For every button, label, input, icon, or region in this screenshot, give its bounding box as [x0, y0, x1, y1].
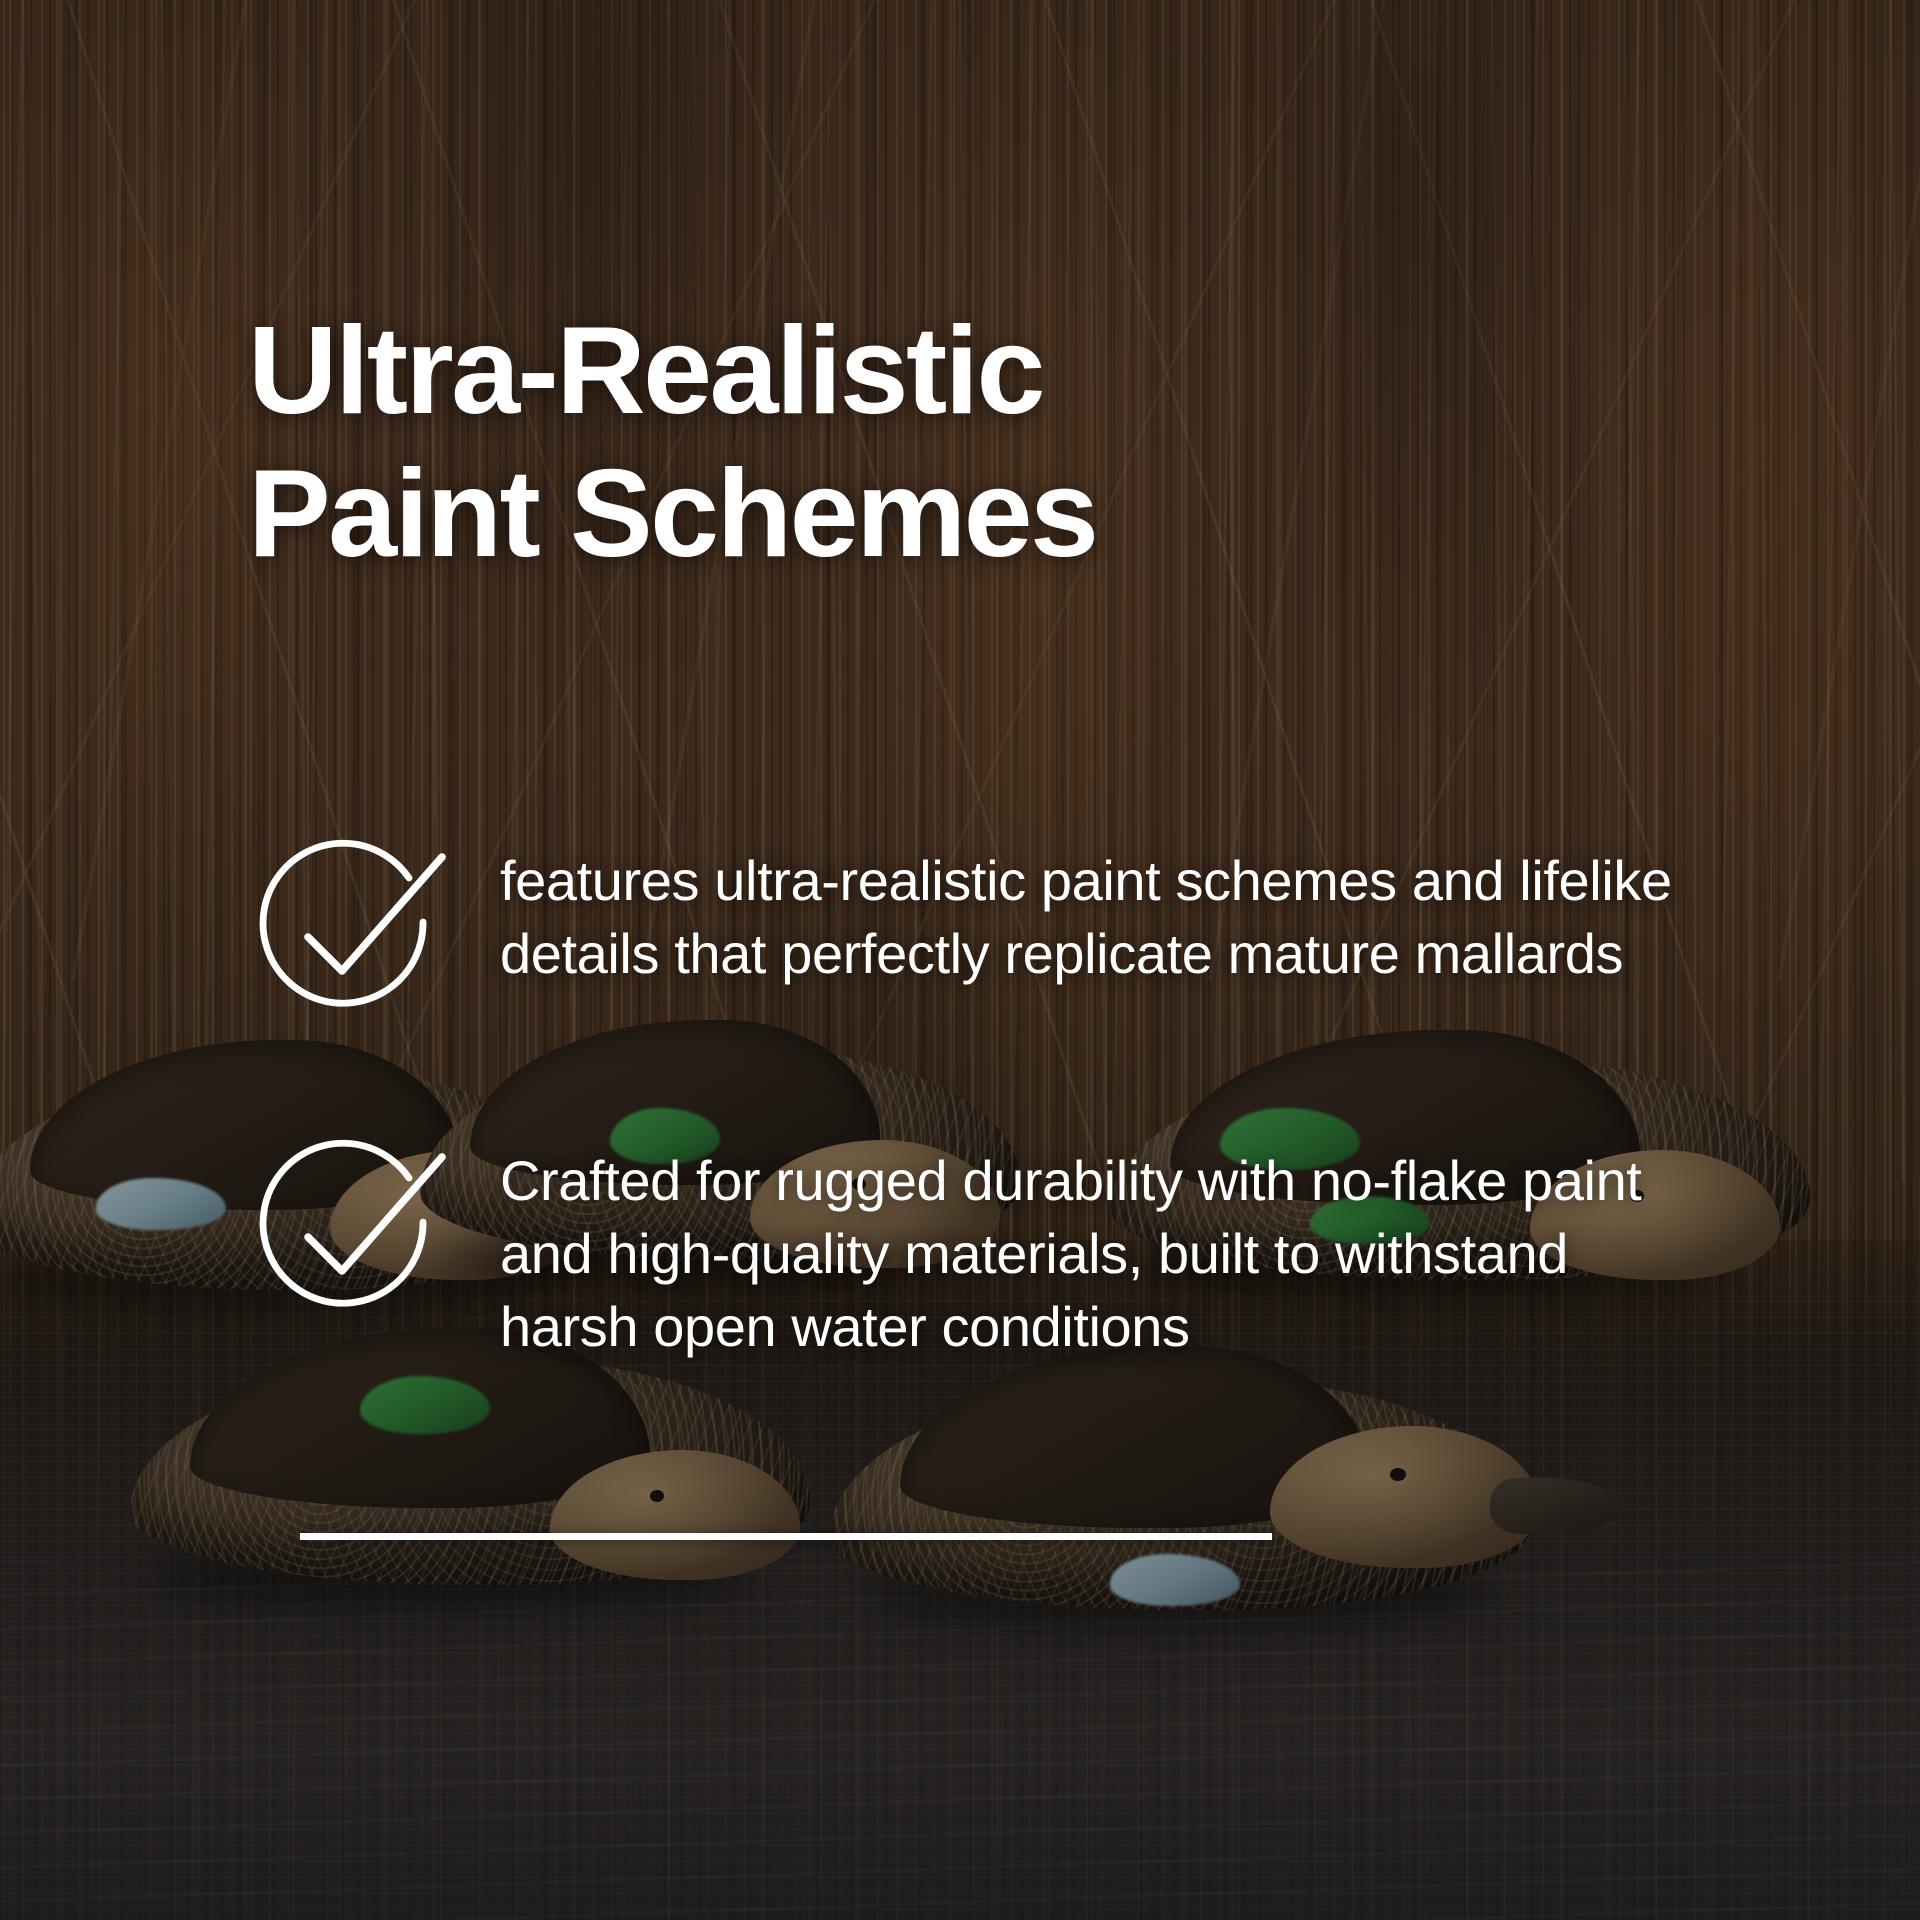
- check-circle-icon: [248, 833, 448, 1033]
- feature-bullet-1-text: features ultra-realistic paint schemes a…: [500, 845, 1698, 991]
- feature-bullet-2: Crafted for rugged durability with no-fl…: [248, 1145, 1698, 1363]
- page-title: Ultra-Realistic Paint Schemes: [248, 300, 1588, 585]
- check-circle-icon: [248, 1133, 448, 1333]
- horizontal-divider: [300, 1533, 1272, 1540]
- feature-bullet-2-text: Crafted for rugged durability with no-fl…: [500, 1145, 1698, 1363]
- headline-line-2: Paint Schemes: [248, 443, 1588, 586]
- feature-bullet-1: features ultra-realistic paint schemes a…: [248, 845, 1698, 1033]
- headline-line-1: Ultra-Realistic: [248, 300, 1588, 443]
- feature-bullet-list: features ultra-realistic paint schemes a…: [248, 845, 1698, 1363]
- card-content: Ultra-Realistic Paint Schemes features u…: [0, 0, 1920, 1920]
- product-feature-card: Ultra-Realistic Paint Schemes features u…: [0, 0, 1920, 1920]
